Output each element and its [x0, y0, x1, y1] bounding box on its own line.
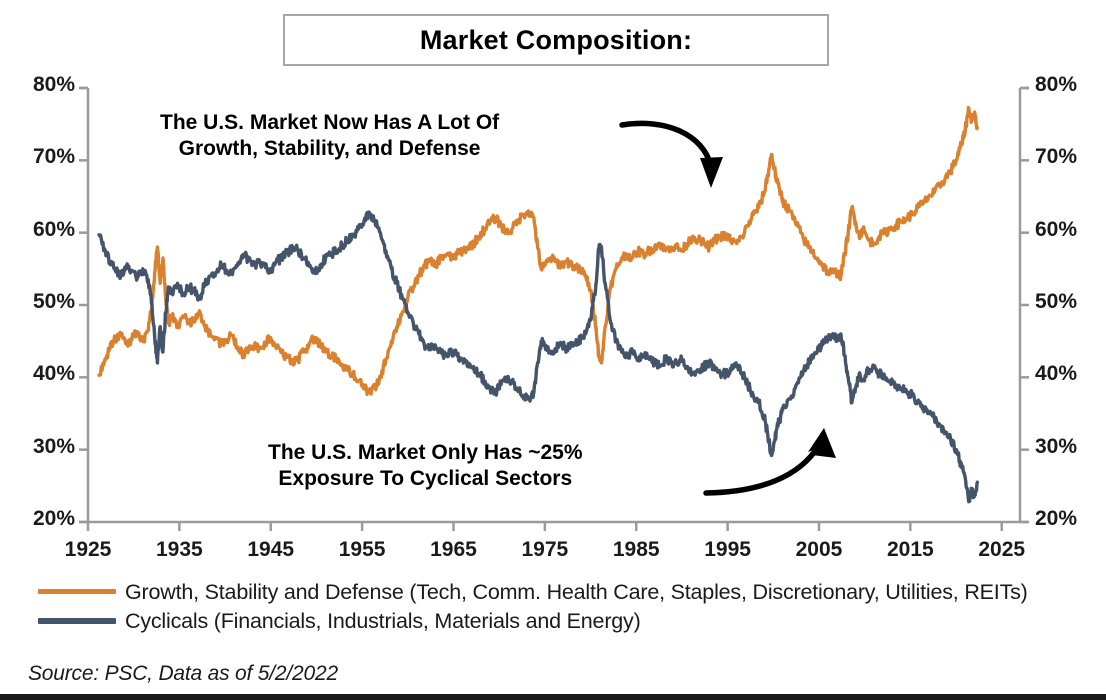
annotation-growth-line1: The U.S. Market Now Has A Lot Of: [160, 110, 499, 136]
chart-title-box: Market Composition:: [283, 14, 829, 66]
x-axis-tick-label: 2005: [796, 538, 843, 562]
growth-annotation-arrow: [622, 123, 711, 166]
annotation-cyclical-line1: The U.S. Market Only Has ~25%: [268, 440, 583, 466]
cyclical-arrow-head2: [812, 428, 836, 458]
x-axis-tick-label: 1975: [522, 538, 569, 562]
legend-label-cyclical: Cyclicals (Financials, Industrials, Mate…: [125, 607, 1100, 636]
y-axis-right-tick-label: 60%: [1035, 218, 1077, 242]
x-axis-tick-label: 2015: [887, 538, 934, 562]
chart-frame: Market Composition: 20%30%40%50%60%70%80…: [0, 0, 1106, 700]
y-axis-left-tick-label: 60%: [33, 218, 75, 242]
y-axis-right-tick-label: 50%: [1035, 290, 1077, 314]
x-axis-tick-label: 1945: [247, 538, 294, 562]
y-axis-right-tick-label: 70%: [1035, 145, 1077, 169]
legend-swatch-growth-icon: [38, 589, 116, 594]
page-title: Market Composition:: [420, 25, 692, 56]
legend-item-growth: Growth, Stability and Defense (Tech, Com…: [30, 578, 1100, 607]
annotation-growth: The U.S. Market Now Has A Lot Of Growth,…: [160, 110, 499, 161]
chart-legend: Growth, Stability and Defense (Tech, Com…: [30, 578, 1100, 635]
source-note: Source: PSC, Data as of 5/2/2022: [28, 662, 338, 686]
legend-swatch-cyclical-icon: [38, 618, 116, 624]
cyclical-annotation-arrow: [706, 445, 819, 493]
x-axis-tick-label: 1955: [339, 538, 386, 562]
annotation-cyclical-line2: Exposure To Cyclical Sectors: [268, 466, 583, 492]
x-axis-tick-label: 1985: [613, 538, 660, 562]
y-axis-left-tick-label: 70%: [33, 145, 75, 169]
legend-item-cyclical: Cyclicals (Financials, Industrials, Mate…: [30, 607, 1100, 636]
y-axis-left-tick-label: 80%: [33, 73, 75, 97]
annotation-arrows: [622, 123, 836, 493]
y-axis-right-tick-label: 80%: [1035, 73, 1077, 97]
y-axis-left-tick-label: 40%: [33, 362, 75, 386]
legend-label-growth: Growth, Stability and Defense (Tech, Com…: [125, 578, 1100, 607]
annotation-growth-line2: Growth, Stability, and Defense: [160, 136, 499, 162]
x-axis-tick-label: 1925: [65, 538, 112, 562]
cyclical-arrow-head: [808, 428, 829, 452]
annotation-cyclical: The U.S. Market Only Has ~25% Exposure T…: [268, 440, 583, 491]
x-axis-tick-label: 1935: [156, 538, 203, 562]
x-axis-tick-label: 2025: [978, 538, 1025, 562]
x-axis-tick-label: 1965: [430, 538, 477, 562]
y-axis-right-tick-label: 30%: [1035, 435, 1077, 459]
y-axis-left-tick-label: 20%: [33, 507, 75, 531]
growth-arrow-head: [700, 157, 723, 188]
y-axis-right-tick-label: 20%: [1035, 507, 1077, 531]
y-axis-left-tick-label: 30%: [33, 435, 75, 459]
y-axis-right-tick-label: 40%: [1035, 362, 1077, 386]
y-axis-left-tick-label: 50%: [33, 290, 75, 314]
x-axis-tick-label: 1995: [704, 538, 751, 562]
